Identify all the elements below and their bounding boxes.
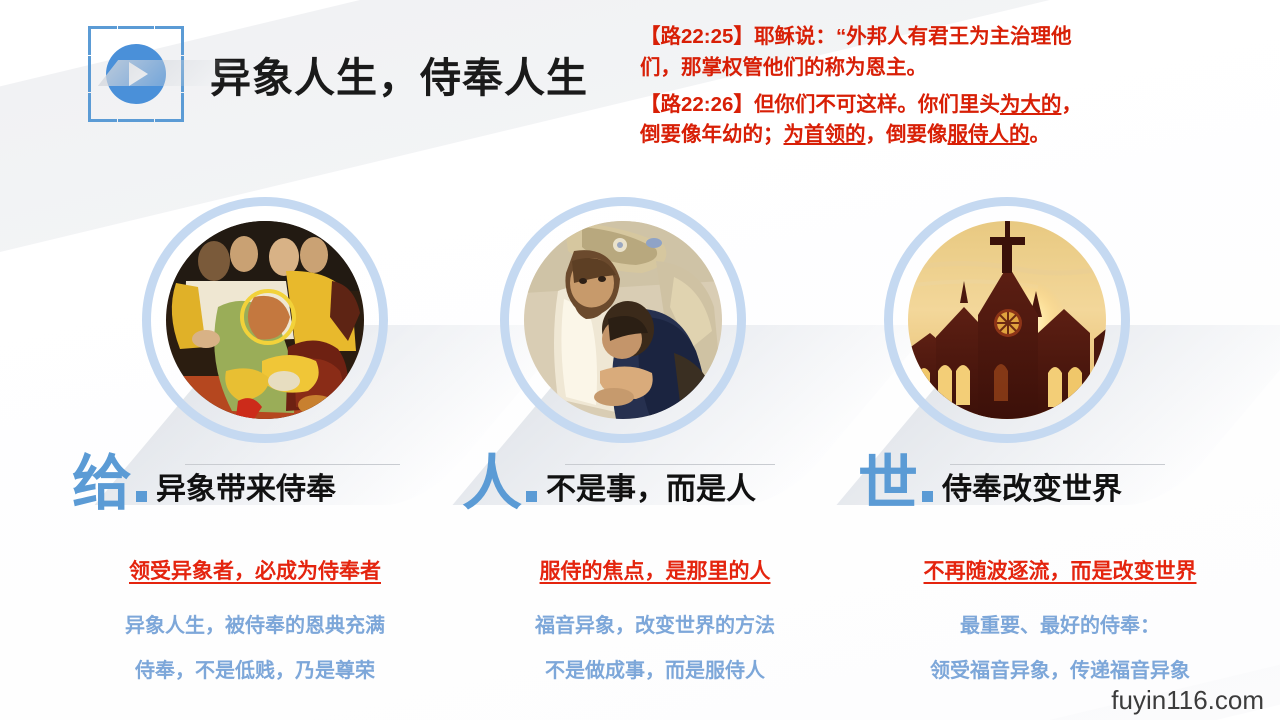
presentation-slide: 异象人生，侍奉人生 【路22:25】耶稣说：“外邦人有君王为主治理他 们，那掌权…	[0, 0, 1280, 720]
column-1-highlight: 领受异象者，必成为侍奉者	[55, 555, 455, 585]
verse-2-text-b: ，	[1061, 93, 1082, 116]
column-body-3: 不再随波逐流，而是改变世界 最重要、最好的侍奉： 领受福音异象，传递福音异象	[855, 555, 1265, 699]
column-heading-2: 人 不是事，而是人	[462, 455, 756, 512]
column-3-subhead: 侍奉改变世界	[942, 464, 1122, 512]
verse-2-text-e: 。	[1030, 123, 1051, 146]
frame-edge-bottom	[118, 119, 154, 122]
column-1-point-2: 侍奉，不是低贱，乃是尊荣	[55, 654, 455, 683]
column-2-subhead: 不是事，而是人	[546, 464, 756, 512]
column-2-point-1: 福音异象，改变世界的方法	[455, 609, 855, 638]
column-body-1: 领受异象者，必成为侍奉者 异象人生，被侍奉的恩典充满 侍奉，不是低贱，乃是尊荣	[55, 555, 455, 699]
verse-1-quote: “外邦人有君王为主治理他	[836, 25, 1072, 48]
column-2-big-char: 人	[462, 455, 522, 512]
column-3-highlight: 不再随波逐流，而是改变世界	[855, 555, 1265, 585]
circle-image-1	[142, 197, 388, 443]
frame-corner-bottom-left	[88, 93, 117, 122]
column-2-point-2: 不是做成事，而是服侍人	[455, 654, 855, 683]
scripture-verse-1: 【路22:25】耶稣说：“外邦人有君王为主治理他 们，那掌权管他们的称为恩主。	[640, 22, 1260, 84]
circle-1-ring	[142, 197, 388, 443]
square-bullet-icon-3	[922, 491, 933, 502]
frame-corner-bottom-right	[155, 93, 184, 122]
page-title: 异象人生，侍奉人生	[210, 44, 588, 104]
play-button-frame	[88, 26, 184, 122]
column-heading-3: 世 侍奉改变世界	[858, 455, 1122, 512]
frame-corner-top-right	[155, 26, 184, 55]
scripture-verse-2-line-1: 【路22:26】但你们不可这样。你们里头为大的，	[640, 90, 1260, 121]
frame-corner-top-left	[88, 26, 117, 55]
verse-2-text-d: ，倒要像	[866, 123, 948, 146]
verse-2-text-c: 倒要像年幼的；	[640, 123, 784, 146]
circle-2-ring	[500, 197, 746, 443]
site-watermark: fuyin116.com	[1111, 685, 1264, 716]
column-3-point-1: 最重要、最好的侍奉：	[855, 609, 1265, 638]
verse-2-ref: 【路22:26】	[640, 93, 754, 116]
verse-2-underline-2: 为首领的	[784, 123, 866, 146]
column-heading-1: 给 异象带来侍奉	[72, 455, 336, 512]
frame-edge-right	[181, 56, 184, 92]
column-3-point-2: 领受福音异象，传递福音异象	[855, 654, 1265, 683]
column-1-subhead: 异象带来侍奉	[156, 464, 336, 512]
verse-2-text-a: 但你们不可这样。你们里头	[754, 93, 1000, 116]
scripture-verse-1-line-2: 们，那掌权管他们的称为恩主。	[640, 53, 1260, 84]
verse-2-underline-1: 为大的	[1000, 93, 1062, 116]
circle-image-2	[500, 197, 746, 443]
verse-2-underline-3: 服侍人的	[948, 123, 1030, 146]
verse-1-ref: 【路22:25】	[640, 25, 754, 48]
scripture-verse-2: 【路22:26】但你们不可这样。你们里头为大的， 倒要像年幼的；为首领的，倒要像…	[640, 90, 1260, 152]
scripture-verse-2-line-2: 倒要像年幼的；为首领的，倒要像服侍人的。	[640, 120, 1260, 151]
scripture-block: 【路22:25】耶稣说：“外邦人有君王为主治理他 们，那掌权管他们的称为恩主。 …	[640, 22, 1260, 157]
scripture-verse-1-line-1: 【路22:25】耶稣说：“外邦人有君王为主治理他	[640, 22, 1260, 53]
circle-3-ring	[884, 197, 1130, 443]
play-icon[interactable]	[106, 44, 166, 104]
column-1-point-1: 异象人生，被侍奉的恩典充满	[55, 609, 455, 638]
heading-row: 给 异象带来侍奉 人 不是事，而是人 世 侍奉改变世界	[0, 455, 1280, 535]
column-2-highlight: 服侍的焦点，是那里的人	[455, 555, 855, 585]
column-1-big-char: 给	[72, 455, 132, 512]
frame-edge-top	[118, 26, 154, 29]
circle-image-3	[884, 197, 1130, 443]
play-triangle-glyph	[129, 62, 148, 86]
column-3-big-char: 世	[858, 455, 918, 512]
verse-1-speaker: 耶稣说：	[754, 25, 836, 48]
frame-edge-left	[88, 56, 91, 92]
square-bullet-icon-2	[526, 491, 537, 502]
column-body-2: 服侍的焦点，是那里的人 福音异象，改变世界的方法 不是做成事，而是服侍人	[455, 555, 855, 699]
image-row	[0, 197, 1280, 447]
slide-header: 异象人生，侍奉人生	[88, 26, 588, 122]
square-bullet-icon-1	[136, 491, 147, 502]
